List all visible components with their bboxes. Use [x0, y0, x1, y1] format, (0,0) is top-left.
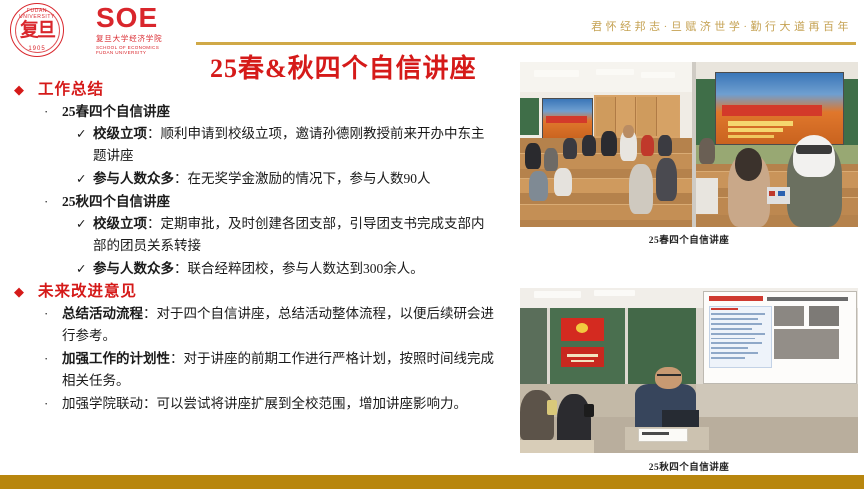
section-heading-row: ◆ 未来改进意见 — [14, 282, 506, 301]
header-gold-divider — [196, 42, 856, 45]
improvement-item-label: 加强学院联动 — [62, 396, 143, 411]
list-item: · 25秋四个自信讲座 — [44, 191, 506, 212]
diamond-bullet-icon: ◆ — [14, 282, 24, 301]
improvement-item-separator: ： — [170, 351, 184, 366]
diamond-bullet-icon: ◆ — [14, 80, 24, 99]
improvement-item-separator: ： — [143, 306, 157, 321]
list-item-label: 25秋四个自信讲座 — [62, 191, 170, 212]
sub-item-separator: ： — [147, 126, 161, 141]
improvement-item-separator: ： — [143, 396, 157, 411]
sub-item-separator: ： — [147, 216, 161, 231]
ai-lecture-photo — [520, 288, 858, 453]
slide-body-content: ◆ 工作总结 · 25春四个自信讲座 ✓ 校级立项：顺利申请到校级立项，邀请孙德… — [14, 80, 506, 415]
checkmark-icon: ✓ — [76, 123, 93, 145]
list-item: · 25春四个自信讲座 — [44, 101, 506, 122]
section-heading-text: 未来改进意见 — [38, 282, 137, 301]
seal-center-glyph: 复旦 — [20, 21, 54, 40]
list-item: ✓ 参与人数众多：在无奖学金激励的情况下，参与人数90人 — [76, 168, 506, 190]
sub-item-text: 参与人数众多：联合经粹团校，参与人数达到300余人。 — [93, 258, 424, 280]
list-item: ✓ 参与人数众多：联合经粹团校，参与人数达到300余人。 — [76, 258, 506, 280]
footer-gold-bar — [0, 475, 864, 489]
dot-bullet-icon: · — [44, 348, 62, 369]
sub-item-label: 校级立项 — [93, 216, 147, 231]
sub-item-label: 校级立项 — [93, 126, 147, 141]
sub-item-text: 校级立项：顺利申请到校级立项，邀请孙德刚教授前来开办中东主题讲座 — [93, 123, 493, 167]
improvement-item-text: 加强工作的计划性：对于讲座的前期工作进行严格计划，按照时间线完成相关任务。 — [62, 348, 494, 392]
lecture-hall-photo-pair — [520, 62, 858, 227]
dot-bullet-icon: · — [44, 191, 62, 212]
fudan-university-seal-logo: FUDAN UNIVERSITY 复旦 1905 — [10, 3, 64, 57]
section-future-improvements: ◆ 未来改进意见 · 总结活动流程：对于四个自信讲座，总结活动整体流程，以便后续… — [14, 282, 506, 415]
checkmark-icon: ✓ — [76, 213, 93, 235]
sub-item-separator: ： — [174, 171, 188, 186]
list-item-label: 25春四个自信讲座 — [62, 101, 170, 122]
sub-item-label: 参与人数众多 — [93, 261, 174, 276]
improvement-item-label: 总结活动流程 — [62, 306, 143, 321]
sub-item-detail: 联合经粹团校，参与人数达到300余人。 — [188, 261, 424, 276]
sub-item-text: 校级立项：定期审批，及时创建各团支部，引导团支书完成支部内部的团员关系转接 — [93, 213, 493, 257]
photo-caption-bottom: 25秋四个自信讲座 — [520, 459, 858, 473]
sub-item-text: 参与人数众多：在无奖学金激励的情况下，参与人数90人 — [93, 168, 431, 190]
list-item: · 加强工作的计划性：对于讲座的前期工作进行严格计划，按照时间线完成相关任务。 — [44, 348, 506, 392]
improvement-item-label: 加强工作的计划性 — [62, 351, 170, 366]
improvement-item-text: 加强学院联动：可以尝试将讲座扩展到全校范围，增加讲座影响力。 — [62, 393, 467, 415]
list-item: · 加强学院联动：可以尝试将讲座扩展到全校范围，增加讲座影响力。 — [44, 393, 506, 415]
section-heading-text: 工作总结 — [38, 80, 104, 99]
checkmark-icon: ✓ — [76, 168, 93, 190]
seal-arc-top-text: FUDAN UNIVERSITY — [11, 8, 63, 20]
list-item: ✓ 校级立项：顺利申请到校级立项，邀请孙德刚教授前来开办中东主题讲座 — [76, 123, 506, 167]
soe-wordmark: SOE — [96, 5, 196, 32]
sub-item-detail: 在无奖学金激励的情况下，参与人数90人 — [188, 171, 431, 186]
list-item: ✓ 校级立项：定期审批，及时创建各团支部，引导团支书完成支部内部的团员关系转接 — [76, 213, 506, 257]
dot-bullet-icon: · — [44, 101, 62, 122]
checkmark-icon: ✓ — [76, 258, 93, 280]
improvement-item-detail: 可以尝试将讲座扩展到全校范围，增加讲座影响力。 — [157, 396, 468, 411]
section-heading-row: ◆ 工作总结 — [14, 80, 506, 99]
header-slogan: 君怀经邦志·旦赋济世学·勤行大道再百年 — [591, 18, 852, 34]
section-work-summary: ◆ 工作总结 · 25春四个自信讲座 ✓ 校级立项：顺利申请到校级立项，邀请孙德… — [14, 80, 506, 280]
soe-logo: SOE 复旦大学经济学院 SCHOOL OF ECONOMICS FUDAN U… — [96, 5, 196, 55]
photo-right-half — [696, 62, 858, 227]
dot-bullet-icon: · — [44, 393, 62, 414]
photo-caption-top: 25春四个自信讲座 — [520, 232, 858, 246]
soe-english-name-line2: FUDAN UNIVERSITY — [96, 50, 196, 55]
seal-arc-bottom-text: 1905 — [11, 46, 63, 52]
photo-left-half — [520, 62, 692, 227]
list-item: · 总结活动流程：对于四个自信讲座，总结活动整体流程，以便后续研会进行参考。 — [44, 303, 506, 347]
improvement-item-text: 总结活动流程：对于四个自信讲座，总结活动整体流程，以便后续研会进行参考。 — [62, 303, 494, 347]
sub-item-label: 参与人数众多 — [93, 171, 174, 186]
dot-bullet-icon: · — [44, 303, 62, 324]
soe-chinese-name: 复旦大学经济学院 — [96, 33, 196, 44]
sub-item-separator: ： — [174, 261, 188, 276]
